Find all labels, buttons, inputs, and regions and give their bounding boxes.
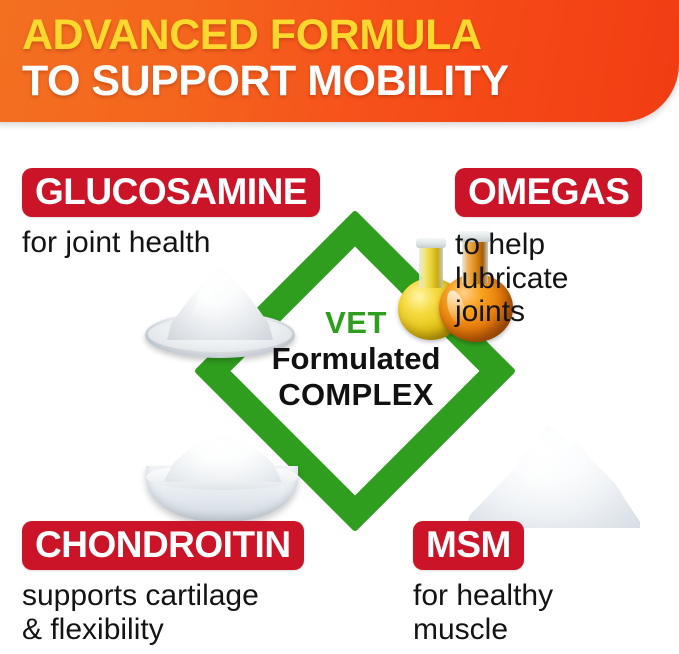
ingredient-description-omegas: to help lubricate joints (455, 228, 642, 329)
ingredient-badge-chondroitin: CHONDROITIN (22, 521, 304, 570)
header-banner-text: ADVANCED FORMULA TO SUPPORT MOBILITY (0, 0, 660, 118)
ingredient-glucosamine: GLUCOSAMINE for joint health (22, 168, 320, 260)
ingredient-badge-omegas: OMEGAS (455, 168, 642, 217)
ingredient-msm: MSM for healthy muscle (413, 521, 553, 646)
header-banner: ADVANCED FORMULA TO SUPPORT MOBILITY (0, 0, 679, 122)
ingredient-omegas: OMEGAS to help lubricate joints (455, 168, 642, 329)
powder-heap (164, 434, 282, 482)
powder-pile-icon (466, 424, 640, 528)
center-formulated-label: Formulated (238, 341, 474, 377)
banner-headline-primary: ADVANCED FORMULA (22, 14, 481, 58)
banner-headline-secondary: TO SUPPORT MOBILITY (22, 60, 509, 104)
powder-pile (466, 424, 640, 528)
yellow-flask-lip (416, 238, 446, 248)
ingredient-chondroitin: CHONDROITIN supports cartilage & flexibi… (22, 521, 304, 646)
powder-bowl-icon (146, 432, 298, 528)
ingredient-badge-glucosamine: GLUCOSAMINE (22, 168, 320, 217)
ingredient-badge-msm: MSM (413, 521, 524, 570)
ingredient-description-glucosamine: for joint health (22, 226, 320, 260)
product-benefits-infographic: ADVANCED FORMULA TO SUPPORT MOBILITY (0, 0, 679, 654)
center-lockup: VET Formulated COMPLEX (238, 305, 474, 413)
center-vet-label: VET (238, 305, 474, 341)
center-complex-label: COMPLEX (238, 377, 474, 413)
ingredient-description-chondroitin: supports cartilage & flexibility (22, 579, 304, 646)
ingredient-description-msm: for healthy muscle (413, 579, 553, 646)
yellow-flask-neck (419, 244, 443, 288)
